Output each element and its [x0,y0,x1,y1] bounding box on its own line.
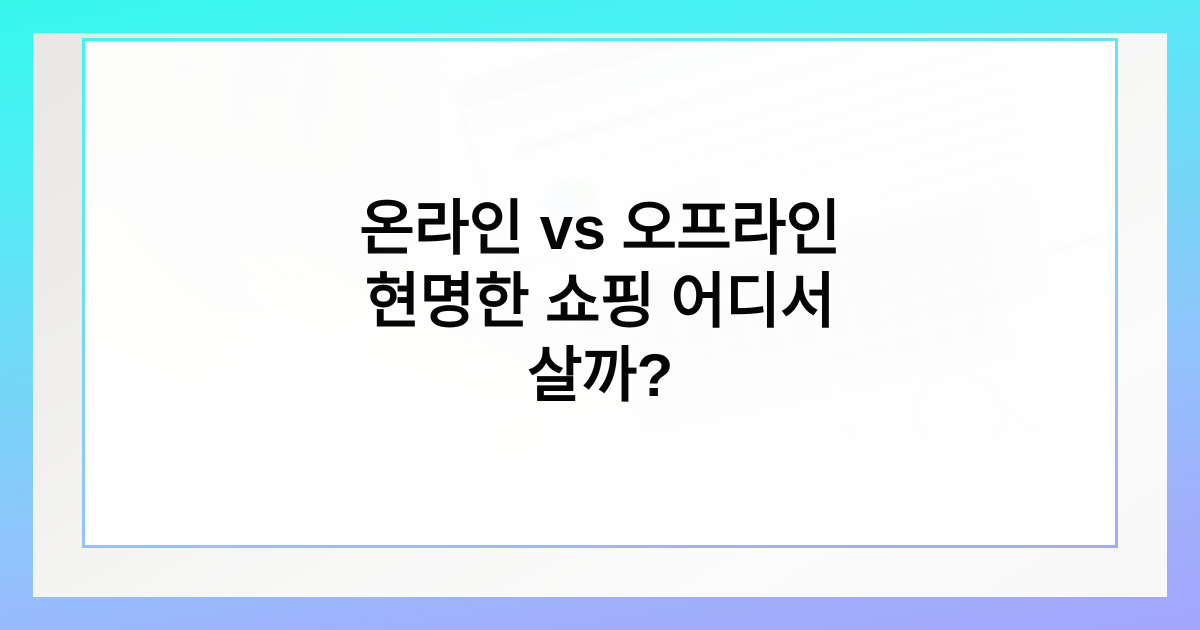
frame-mat: 온라인 vs 오프라인 현명한 쇼핑 어디서 살까? [33,33,1167,597]
title-container: 온라인 vs 오프라인 현명한 쇼핑 어디서 살까? [85,41,1115,545]
inner-border-rule: 온라인 vs 오프라인 현명한 쇼핑 어디서 살까? [82,38,1118,548]
title-line-2: 현명한 쇼핑 어디서 [360,265,841,338]
title-line-3: 살까? [360,339,841,412]
page-title: 온라인 vs 오프라인 현명한 쇼핑 어디서 살까? [360,192,841,412]
title-line-1: 온라인 vs 오프라인 [360,192,841,265]
thumbnail-card: 온라인 vs 오프라인 현명한 쇼핑 어디서 살까? [0,0,1200,630]
